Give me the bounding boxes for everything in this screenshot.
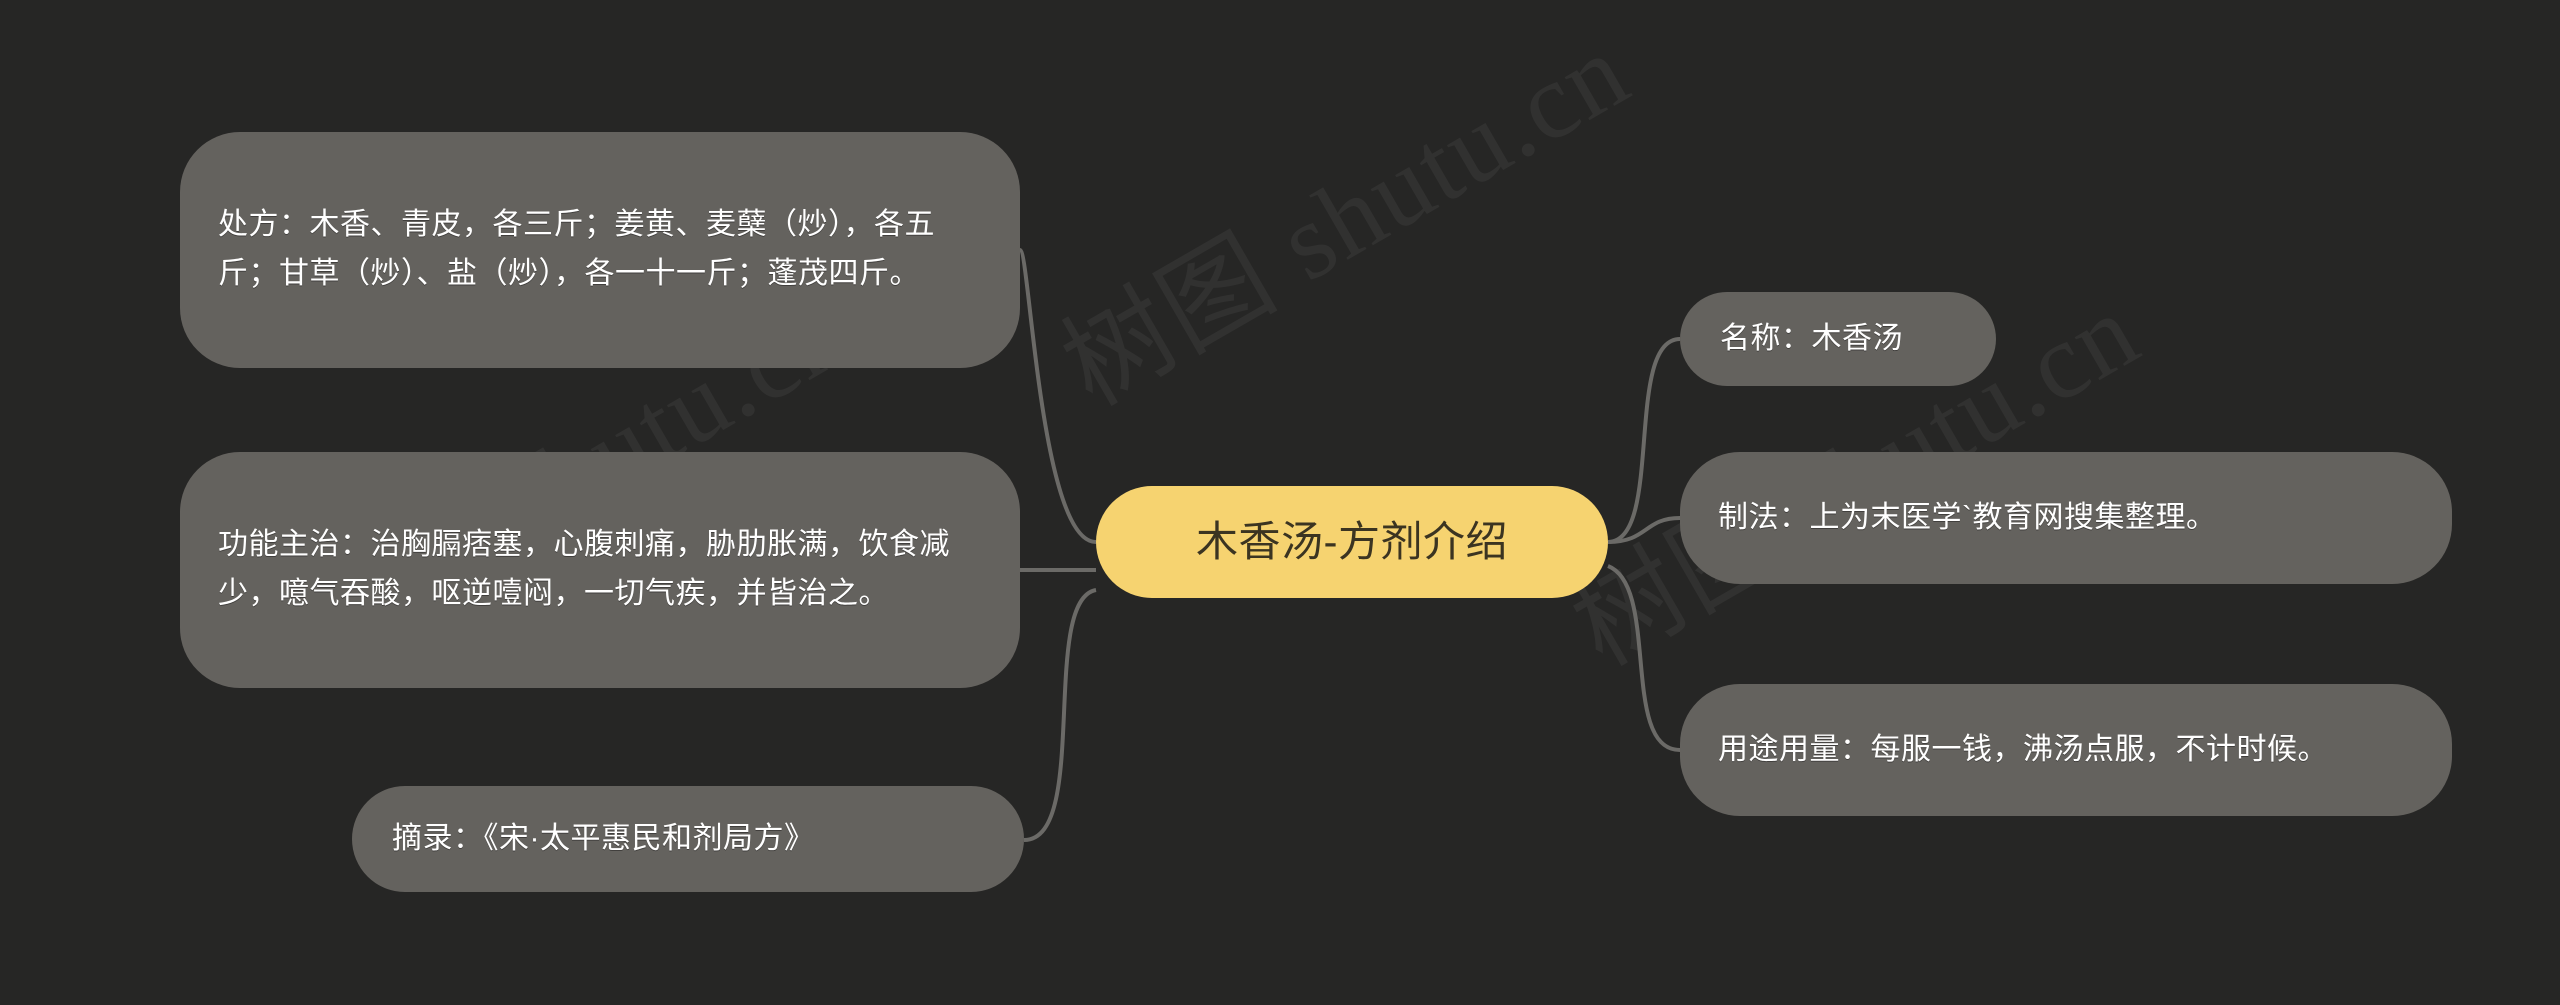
mindmap-canvas: 树图 shutu.cn 树图 shutu.cn 树图 shutu.cn 处方：木… bbox=[0, 0, 2560, 1005]
node-name[interactable]: 名称：木香汤 bbox=[1680, 292, 1996, 386]
node-usage-label: 用途用量：每服一钱，沸汤点服，不计时候。 bbox=[1718, 726, 2414, 775]
node-prescription[interactable]: 处方：木香、青皮，各三斤；姜黄、麦蘖（炒），各五斤；甘草（炒）、盐（炒），各一十… bbox=[180, 132, 1020, 368]
link-root-name bbox=[1608, 339, 1680, 542]
node-indication[interactable]: 功能主治：治胸膈痞塞，心腹刺痛，胁肋胀满，饮食减少，噫气吞酸，呕逆噎闷，一切气疾… bbox=[180, 452, 1020, 688]
node-prescription-label: 处方：木香、青皮，各三斤；姜黄、麦蘖（炒），各五斤；甘草（炒）、盐（炒），各一十… bbox=[218, 201, 982, 298]
node-root-label: 木香汤-方剂介绍 bbox=[1096, 508, 1608, 576]
node-indication-label: 功能主治：治胸膈痞塞，心腹刺痛，胁肋胀满，饮食减少，噫气吞酸，呕逆噎闷，一切气疾… bbox=[218, 521, 982, 618]
node-source-label: 摘录：《宋·太平惠民和剂局方》 bbox=[392, 815, 984, 864]
node-method-label: 制法：上为末医学`教育网搜集整理。 bbox=[1718, 494, 2414, 543]
link-root-source bbox=[1024, 590, 1096, 840]
link-root-usage bbox=[1608, 566, 1680, 750]
link-root-prescription bbox=[1020, 250, 1096, 542]
node-source[interactable]: 摘录：《宋·太平惠民和剂局方》 bbox=[352, 786, 1024, 892]
node-name-label: 名称：木香汤 bbox=[1720, 315, 1956, 364]
node-root[interactable]: 木香汤-方剂介绍 bbox=[1096, 486, 1608, 598]
node-method[interactable]: 制法：上为末医学`教育网搜集整理。 bbox=[1680, 452, 2452, 584]
node-usage[interactable]: 用途用量：每服一钱，沸汤点服，不计时候。 bbox=[1680, 684, 2452, 816]
